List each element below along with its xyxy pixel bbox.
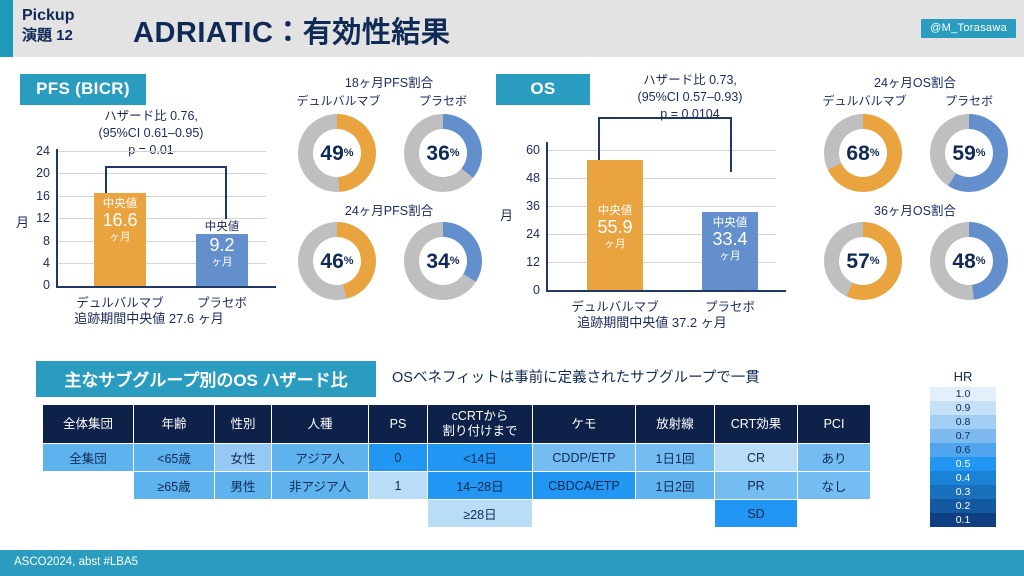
- pfs-bar-value-durva: 16.6: [94, 211, 146, 230]
- table-cell: 非アジア人: [272, 472, 369, 500]
- table-col-header-line: 年齢: [136, 417, 212, 432]
- pfs-bar-value-placebo: 9.2: [196, 234, 248, 255]
- os-ytick: 12: [510, 255, 540, 269]
- os-followup-footnote: 追跡期間中央値 37.2 ヶ月: [532, 312, 772, 331]
- pfs-bar-placebo: 9.2 ヶ月: [196, 234, 248, 286]
- os-bar-unit-durva: ヶ月: [587, 237, 643, 251]
- donut-center: 48%: [945, 237, 993, 285]
- os-ytick: 0: [510, 283, 540, 297]
- header-accent-bar: [0, 0, 13, 57]
- subgroup-table: 全体集団年齢性別人種PScCRTから割り付けまでケモ放射線CRT効果PCI 全集…: [42, 404, 871, 528]
- pfs-gridline: [56, 151, 266, 152]
- hr-legend-step: 0.3: [930, 485, 996, 499]
- pfs-ytick: 4: [20, 256, 50, 270]
- hr-legend-step: 0.7: [930, 429, 996, 443]
- percent-sign: %: [450, 147, 460, 159]
- table-cell: PR: [715, 472, 798, 500]
- pfs-ytick: 20: [20, 166, 50, 180]
- percent-sign: %: [344, 255, 354, 267]
- table-cell-empty: [43, 500, 134, 528]
- table-cell-empty: [134, 500, 215, 528]
- pickup-label: Pickup 演題 12: [22, 5, 122, 46]
- pfs-bar-durvalumab: 中央値 16.6 ヶ月: [94, 193, 146, 286]
- table-cell: 男性: [215, 472, 272, 500]
- table-cell-empty: [272, 500, 369, 528]
- table-cell: なし: [798, 472, 871, 500]
- pfs-bar-unit-durva: ヶ月: [94, 230, 146, 244]
- pfs-24mo-donut-durvalumab: 46%: [298, 222, 376, 300]
- donut-center: 68%: [839, 129, 887, 177]
- pfs-bar-caption-durva: 中央値: [94, 193, 146, 211]
- os-bar-placebo: 中央値 33.4 ヶ月: [702, 212, 758, 290]
- os-24mo-donut-durvalumab: 68%: [824, 114, 902, 192]
- donut-center: 49%: [313, 129, 361, 177]
- table-row: ≥65歳男性非アジア人114–28日CBDCA/ETP1日2回PRなし: [43, 472, 871, 500]
- table-cell-empty: [636, 500, 715, 528]
- table-col-header-line: ケモ: [535, 417, 633, 432]
- donut-center: 36%: [419, 129, 467, 177]
- pfs-donut-arm-placebo: プラセボ: [394, 92, 492, 109]
- os-y-axis-line: [546, 142, 548, 291]
- os-rate-donut-group: 24ヶ月OS割合 デュルバルマブ プラセボ 68% 59% 36ヶ月OS割合 5…: [812, 72, 1018, 302]
- table-col-header: PS: [369, 405, 428, 444]
- table-col-header: 全体集団: [43, 405, 134, 444]
- hr-legend-step: 0.5: [930, 457, 996, 471]
- author-handle-badge: @M_Torasawa: [921, 19, 1016, 38]
- pfs-24mo-value-placebo: 34: [426, 251, 449, 272]
- percent-sign: %: [976, 147, 986, 159]
- donut-center: 59%: [945, 129, 993, 177]
- percent-sign: %: [870, 147, 880, 159]
- table-cell: <65歳: [134, 444, 215, 472]
- pfs-24mo-donut-placebo: 34%: [404, 222, 482, 300]
- pfs-plot-area: 24 20 16 12 8 4 0 中央値 16.6 ヶ月 9.2 ヶ月 中央値…: [14, 108, 284, 328]
- section-badge-pfs: PFS (BICR): [20, 74, 146, 105]
- os-24mo-donut-placebo: 59%: [930, 114, 1008, 192]
- table-cell: あり: [798, 444, 871, 472]
- os-median-bar-chart: ハザード比 0.73, (95%CI 0.57–0.93) p = 0.0104…: [490, 72, 790, 327]
- os-bar-value-durva: 55.9: [587, 218, 643, 237]
- os-donut-title-24mo: 24ヶ月OS割合: [812, 72, 1018, 91]
- os-36mo-value-placebo: 48: [952, 251, 975, 272]
- hr-legend-step: 1.0: [930, 387, 996, 401]
- pfs-bar-caption-placebo: 中央値: [196, 218, 248, 234]
- os-plot-area: 60 48 36 24 12 0 中央値 55.9 ヶ月 中央値 33.4 ヶ月…: [490, 72, 790, 327]
- slide-header: Pickup 演題 12 ADRIATIC：有効性結果 @M_Torasawa: [0, 0, 1024, 57]
- table-col-header: 性別: [215, 405, 272, 444]
- table-cell: 全集団: [43, 444, 134, 472]
- os-24mo-value-durvalumab: 68: [846, 143, 869, 164]
- hr-legend-step: 0.9: [930, 401, 996, 415]
- pfs-18mo-value-durvalumab: 49: [320, 143, 343, 164]
- os-gridline: [546, 206, 776, 207]
- pfs-ytick: 0: [20, 278, 50, 292]
- pickup-line-2: 演題 12: [22, 26, 122, 46]
- table-col-header-line: PS: [371, 417, 425, 432]
- table-col-header: ケモ: [533, 405, 636, 444]
- pfs-donut-title-24mo: 24ヶ月PFS割合: [286, 200, 492, 219]
- hr-legend-step: 0.8: [930, 415, 996, 429]
- table-cell-empty: [533, 500, 636, 528]
- percent-sign: %: [976, 255, 986, 267]
- hr-legend-step: 0.6: [930, 443, 996, 457]
- table-cell: 女性: [215, 444, 272, 472]
- os-36mo-donut-durvalumab: 57%: [824, 222, 902, 300]
- pfs-24mo-value-durvalumab: 46: [320, 251, 343, 272]
- pickup-line-1: Pickup: [22, 5, 122, 26]
- hr-legend-step: 0.4: [930, 471, 996, 485]
- table-cell: <14日: [428, 444, 533, 472]
- pfs-donut-arm-durvalumab: デュルバルマブ: [286, 92, 391, 109]
- os-bar-unit-placebo: ヶ月: [702, 249, 758, 263]
- slide-root: Pickup 演題 12 ADRIATIC：有効性結果 @M_Torasawa …: [0, 0, 1024, 576]
- table-cell: CDDP/ETP: [533, 444, 636, 472]
- hr-legend-step: 0.1: [930, 513, 996, 527]
- pfs-ytick: 8: [20, 234, 50, 248]
- table-cell: ≥65歳: [134, 472, 215, 500]
- table-cell: 1: [369, 472, 428, 500]
- table-col-header-line: 割り付けまで: [430, 424, 530, 439]
- os-bar-caption-durva: 中央値: [587, 160, 643, 218]
- os-bar-value-placebo: 33.4: [702, 230, 758, 249]
- hr-legend-caption: HR: [930, 369, 996, 384]
- pfs-x-axis-line: [56, 286, 276, 288]
- pfs-median-bar-chart: ハザード比 0.76, (95%CI 0.61–0.95) p = 0.01 月…: [14, 108, 284, 328]
- table-col-header: 放射線: [636, 405, 715, 444]
- pfs-followup-footnote: 追跡期間中央値 27.6 ヶ月: [34, 308, 264, 327]
- donut-center: 34%: [419, 237, 467, 285]
- table-col-header: cCRTから割り付けまで: [428, 405, 533, 444]
- table-col-header: 年齢: [134, 405, 215, 444]
- donut-center: 46%: [313, 237, 361, 285]
- table-col-header-line: 放射線: [638, 417, 712, 432]
- table-col-header-line: 人種: [274, 417, 366, 432]
- pfs-18mo-value-placebo: 36: [426, 143, 449, 164]
- table-col-header-line: CRT効果: [717, 417, 795, 432]
- footer-source-text: ASCO2024, abst #LBA5: [14, 556, 138, 568]
- os-24mo-value-placebo: 59: [952, 143, 975, 164]
- table-col-header-line: PCI: [800, 417, 868, 432]
- os-gridline: [546, 178, 776, 179]
- os-donut-arm-placebo: プラセボ: [920, 92, 1018, 109]
- pfs-rate-donut-group: 18ヶ月PFS割合 デュルバルマブ プラセボ 49% 36% 24ヶ月PFS割合…: [286, 72, 492, 302]
- table-col-header: 人種: [272, 405, 369, 444]
- pfs-18mo-donut-durvalumab: 49%: [298, 114, 376, 192]
- table-cell: アジア人: [272, 444, 369, 472]
- os-36mo-value-durvalumab: 57: [846, 251, 869, 272]
- table-row: ≥28日SD: [43, 500, 871, 528]
- table-header-row: 全体集団年齢性別人種PScCRTから割り付けまでケモ放射線CRT効果PCI: [43, 405, 871, 444]
- os-ytick: 24: [510, 227, 540, 241]
- table-body: 全集団<65歳女性アジア人0<14日CDDP/ETP1日1回CRあり≥65歳男性…: [43, 444, 871, 528]
- donut-center: 57%: [839, 237, 887, 285]
- table-row: 全集団<65歳女性アジア人0<14日CDDP/ETP1日1回CRあり: [43, 444, 871, 472]
- pfs-ytick: 16: [20, 189, 50, 203]
- table-cell-empty: [369, 500, 428, 528]
- percent-sign: %: [870, 255, 880, 267]
- table-cell: 14–28日: [428, 472, 533, 500]
- table-col-header: CRT効果: [715, 405, 798, 444]
- table-cell: CR: [715, 444, 798, 472]
- pfs-bar-unit-placebo: ヶ月: [196, 255, 248, 269]
- pfs-donut-title-18mo: 18ヶ月PFS割合: [286, 72, 492, 91]
- table-col-header-line: 全体集団: [45, 417, 131, 432]
- os-donut-arm-durvalumab: デュルバルマブ: [812, 92, 917, 109]
- os-bar-durvalumab: 中央値 55.9 ヶ月: [587, 160, 643, 290]
- table-col-header-line: cCRTから: [430, 409, 530, 424]
- page-title: ADRIATIC：有効性結果: [133, 9, 450, 51]
- table-cell: 0: [369, 444, 428, 472]
- table-col-header-line: 性別: [217, 417, 269, 432]
- table-cell: 1日2回: [636, 472, 715, 500]
- os-ytick: 36: [510, 199, 540, 213]
- os-ytick: 60: [510, 143, 540, 157]
- pfs-18mo-donut-placebo: 36%: [404, 114, 482, 192]
- os-bar-caption-placebo: 中央値: [702, 212, 758, 230]
- os-36mo-donut-placebo: 48%: [930, 222, 1008, 300]
- pfs-ytick: 24: [20, 144, 50, 158]
- table-col-header: PCI: [798, 405, 871, 444]
- pfs-ytick: 12: [20, 211, 50, 225]
- subgroup-section-badge: 主なサブグループ別のOS ハザード比: [36, 361, 376, 397]
- table-cell-empty: [215, 500, 272, 528]
- os-ytick: 48: [510, 171, 540, 185]
- table-cell: ≥28日: [428, 500, 533, 528]
- hr-legend-step: 0.2: [930, 499, 996, 513]
- hr-legend-scale: 1.00.90.80.70.60.50.40.30.20.1: [930, 387, 996, 527]
- os-x-axis-line: [546, 290, 786, 292]
- table-cell: SD: [715, 500, 798, 528]
- os-donut-title-36mo: 36ヶ月OS割合: [812, 200, 1018, 219]
- percent-sign: %: [450, 255, 460, 267]
- table-cell: 1日1回: [636, 444, 715, 472]
- hr-color-legend: HR 1.00.90.80.70.60.50.40.30.20.1: [930, 369, 996, 527]
- table-cell-empty: [43, 472, 134, 500]
- slide-footer: ASCO2024, abst #LBA5: [0, 550, 1024, 576]
- table-cell-empty: [798, 500, 871, 528]
- subgroup-note: OSベネフィットは事前に定義されたサブグループで一貫: [392, 366, 760, 387]
- percent-sign: %: [344, 147, 354, 159]
- table-cell: CBDCA/ETP: [533, 472, 636, 500]
- pfs-y-axis-line: [56, 149, 58, 288]
